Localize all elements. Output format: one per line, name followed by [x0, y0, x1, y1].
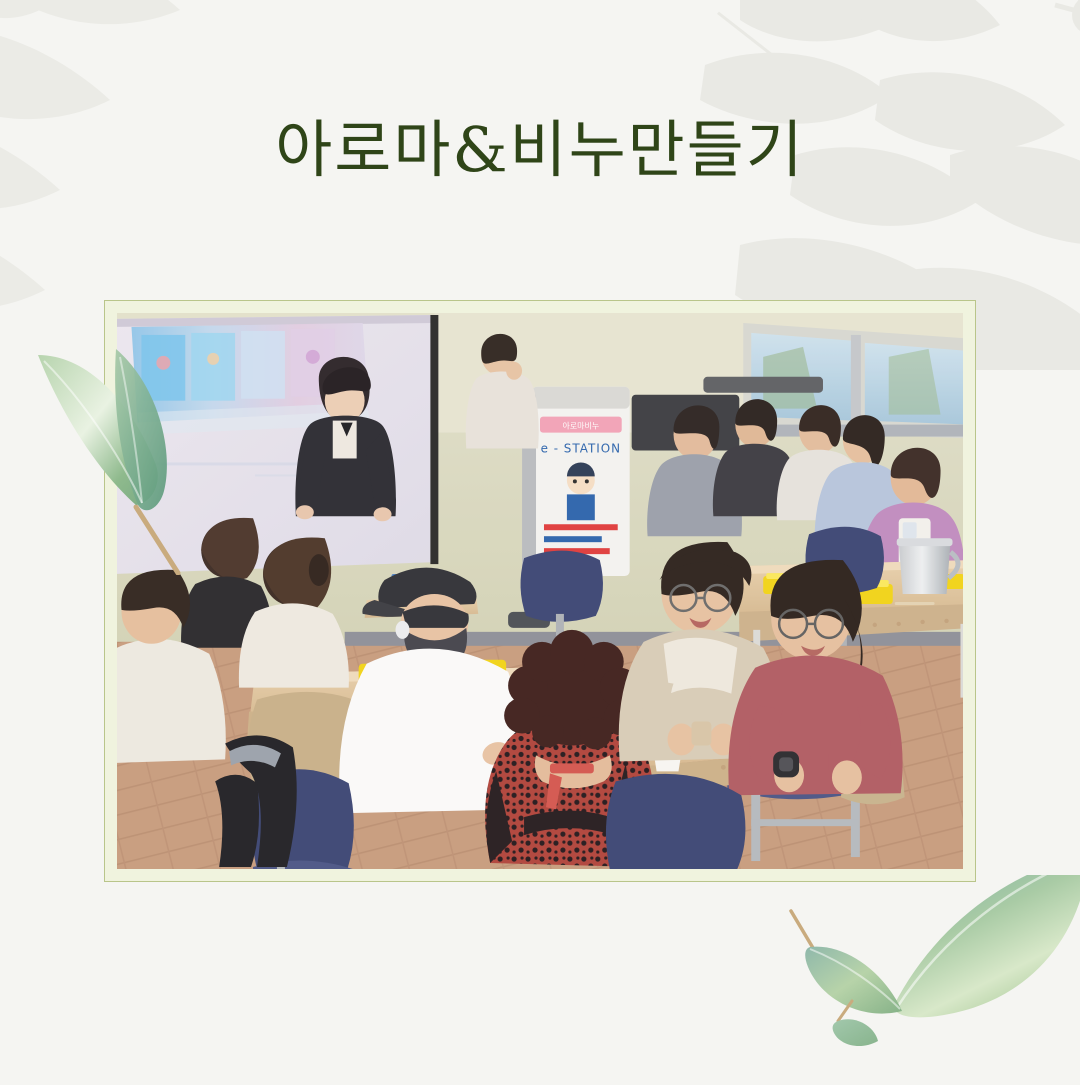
- workshop-photo: 아로마비누 e - STATION: [117, 313, 963, 869]
- page-title: 아로마&비누만들기: [0, 116, 1080, 184]
- poster-canvas: 아로마&비누만들기: [0, 0, 1080, 1080]
- watercolor-leaf-bottomright-icon: [760, 875, 1080, 1085]
- photo-frame: 아로마비누 e - STATION: [104, 300, 976, 882]
